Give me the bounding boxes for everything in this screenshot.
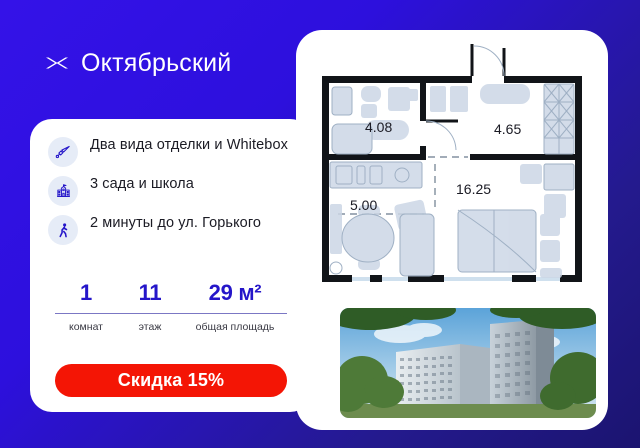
brand-header: Октябрьский (44, 50, 231, 76)
list-item-label: 2 минуты до ул. Горького (90, 214, 261, 233)
stat-value-floor: 11 (117, 282, 183, 304)
stat-value-area-number: 29 (209, 280, 233, 305)
complex-photo[interactable] (340, 308, 596, 418)
list-item: Два вида отделки и Whitebox (48, 136, 298, 167)
info-card: Два вида отделки и Whitebox (30, 119, 312, 412)
stat-value-area: 29 м² (183, 282, 287, 304)
stat-value-area-unit: м² (238, 280, 261, 305)
room-area-living: 16.25 (456, 181, 491, 197)
plan-photo-panel: .w{fill:#111418} .f{fill:#ccd7e6;opacity… (296, 30, 608, 430)
walking-person-icon (48, 215, 78, 245)
stat-label-floor: этаж (117, 321, 183, 333)
stats-labels-row: комнат этаж общая площадь (55, 321, 287, 333)
stats-values-row: 1 11 29 м² (55, 282, 287, 304)
list-item: 3 сада и школа (48, 175, 298, 206)
stats-divider (55, 313, 287, 314)
floor-plan[interactable]: .w{fill:#111418} .f{fill:#ccd7e6;opacity… (308, 42, 596, 292)
list-item-label: Два вида отделки и Whitebox (90, 136, 288, 155)
feature-list: Два вида отделки и Whitebox (48, 136, 298, 253)
stat-value-rooms: 1 (55, 282, 117, 304)
school-icon (48, 176, 78, 206)
list-item: 2 минуты до ул. Горького (48, 214, 298, 245)
list-item-label: 3 сада и школа (90, 175, 194, 194)
stat-label-area: общая площадь (183, 321, 287, 333)
room-area-hallway: 4.65 (494, 121, 521, 137)
room-area-bathroom: 4.08 (365, 119, 392, 135)
promo-banner: Октябрьский .w{fill:#111418} .f{fill:#cc… (0, 0, 640, 448)
brand-name: Октябрьский (81, 51, 231, 76)
x-mark-logo-icon (44, 50, 70, 76)
stats-block: 1 11 29 м² комнат этаж общая площадь (55, 282, 287, 333)
discount-button[interactable]: Скидка 15% (55, 364, 287, 397)
room-area-kitchen: 5.00 (350, 197, 377, 213)
trowel-icon (48, 137, 78, 167)
stat-label-rooms: комнат (55, 321, 117, 333)
